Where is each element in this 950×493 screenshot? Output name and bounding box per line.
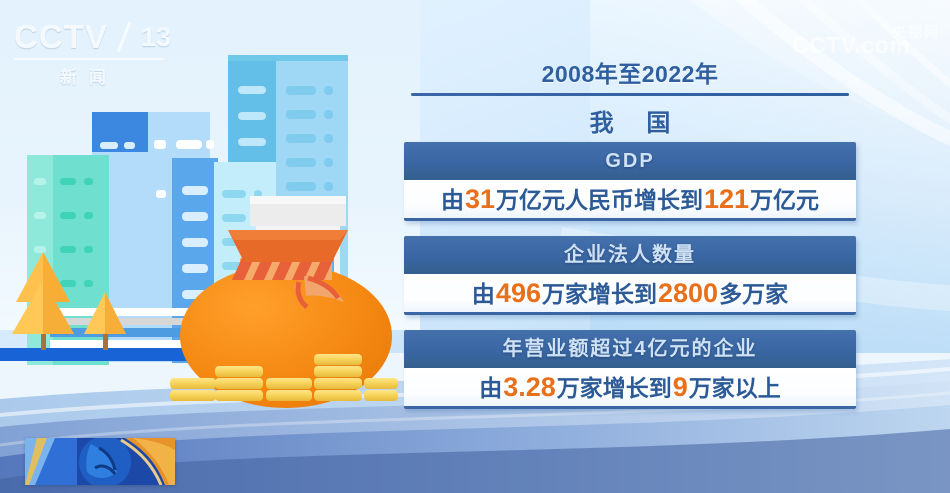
statistic-card-value: 由31万亿元人民币增长到121万亿元: [404, 180, 856, 221]
subject-title: 我 国: [404, 103, 856, 138]
statistic-card-caption: 年营业额超过4亿元的企业: [404, 330, 856, 368]
statistic-text: 万亿元: [750, 187, 819, 213]
logo-slash-icon: [112, 20, 134, 54]
statistic-text: 万亿元人民币增长到: [496, 187, 703, 213]
statistic-text: 由: [441, 187, 464, 213]
statistic-card: 企业法人数量由496万家增长到2800多万家: [404, 236, 856, 315]
headline-divider: [411, 93, 849, 96]
broadcast-graphic: CCTV 13 新闻 央视网 CCTV.com 2008年至2022年 我 国 …: [0, 0, 950, 493]
cctv-com-watermark: 央视网 CCTV.com: [792, 8, 942, 56]
statistic-text: 万家以上: [689, 375, 781, 401]
statistic-card: GDP由31万亿元人民币增长到121万亿元: [404, 142, 856, 221]
statistic-figure: 3.28: [502, 372, 557, 402]
globe-graphic-icon: [25, 438, 175, 485]
statistic-text: 由: [472, 281, 495, 307]
statistic-text: 由: [479, 375, 502, 401]
money-bag-illustration: [168, 218, 398, 418]
statistic-card-value: 由3.28万家增长到9万家以上: [404, 368, 856, 409]
channel-name-cn: 新闻: [14, 58, 164, 88]
news-globe-thumbnail: [25, 438, 175, 485]
channel-number: 13: [138, 22, 171, 53]
statistic-figure: 496: [495, 278, 542, 308]
cctv13-channel-logo: CCTV 13 新闻: [14, 18, 174, 82]
statistic-figure: 2800: [657, 278, 719, 308]
statistics-card-list: GDP由31万亿元人民币增长到121万亿元企业法人数量由496万家增长到2800…: [404, 142, 856, 424]
statistic-text: 万家增长到: [557, 375, 672, 401]
statistic-card-value: 由496万家增长到2800多万家: [404, 274, 856, 315]
statistic-text: 万家增长到: [542, 281, 657, 307]
period-title: 2008年至2022年: [404, 55, 856, 89]
statistic-text: 多万家: [719, 281, 788, 307]
statistic-card-caption: GDP: [404, 142, 856, 180]
headline-block: 2008年至2022年 我 国: [404, 55, 856, 138]
statistic-figure: 31: [464, 184, 496, 214]
cctv-wordmark: CCTV: [14, 18, 108, 56]
statistic-figure: 121: [703, 184, 750, 214]
statistic-card-caption: 企业法人数量: [404, 236, 856, 274]
statistic-figure: 9: [672, 372, 689, 402]
statistic-card: 年营业额超过4亿元的企业由3.28万家增长到9万家以上: [404, 330, 856, 409]
